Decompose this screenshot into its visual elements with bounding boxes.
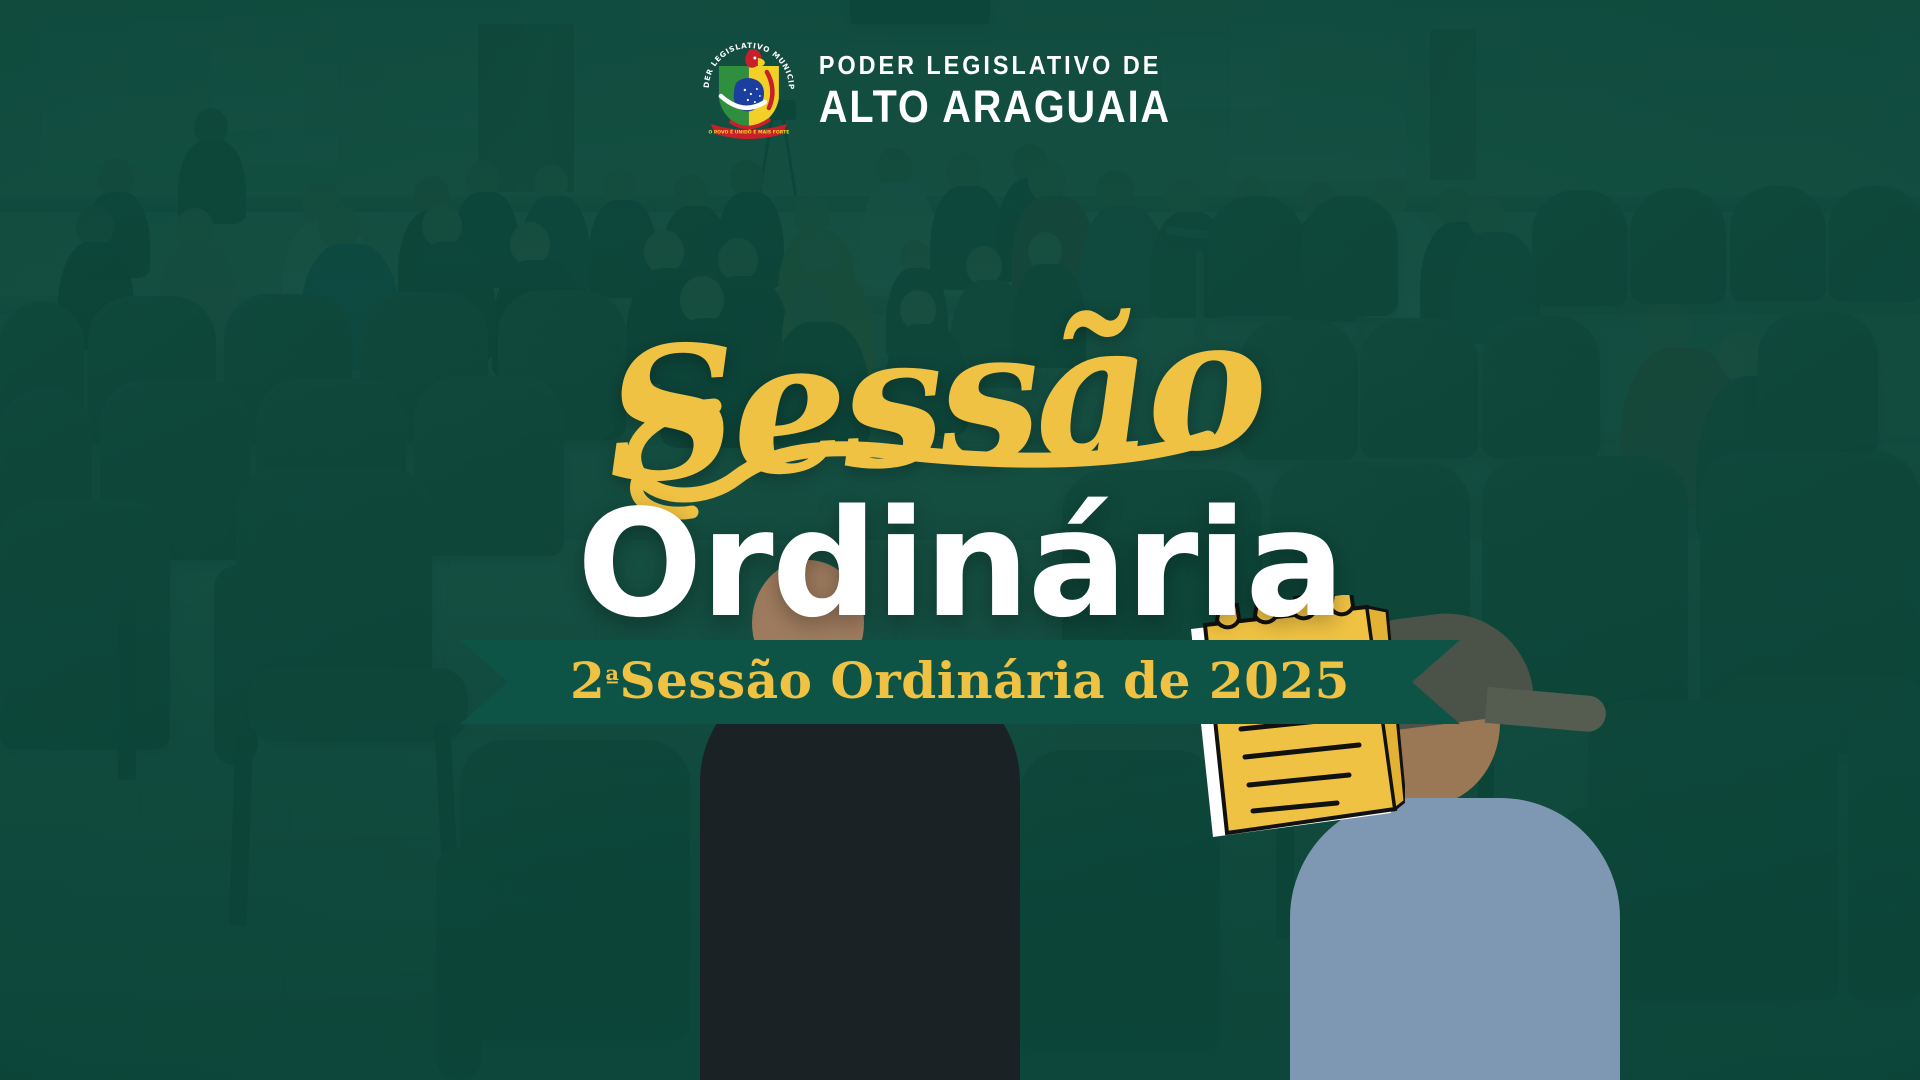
ribbon-text-after: Sessão Ordinária de 2025 — [619, 651, 1349, 710]
title-artwork: Sessão Ordinária 2ª Sessão Ordinária de … — [0, 300, 1920, 770]
headline-word: Ordinária — [0, 490, 1920, 638]
ribbon-label: 2ª Sessão Ordinária de 2025 — [460, 640, 1460, 724]
ribbon-session-number: 2 — [570, 651, 605, 710]
brand-line-2: ALTO ARAGUAIA — [819, 84, 1171, 129]
brand-text-block: PODER LEGISLATIVO DE ALTO ARAGUAIA — [819, 52, 1219, 129]
session-ribbon: 2ª Sessão Ordinária de 2025 — [460, 640, 1460, 724]
brand-lockup: PODER LEGISLATIVO MUNICIPAL — [701, 38, 1219, 142]
ribbon-ordinal-suffix: ª — [605, 664, 619, 697]
poster-canvas: PODER LEGISLATIVO MUNICIPAL — [0, 0, 1920, 1080]
municipal-coat-of-arms-icon: PODER LEGISLATIVO MUNICIPAL — [701, 38, 797, 142]
brand-line-1: PODER LEGISLATIVO DE — [819, 52, 1179, 78]
